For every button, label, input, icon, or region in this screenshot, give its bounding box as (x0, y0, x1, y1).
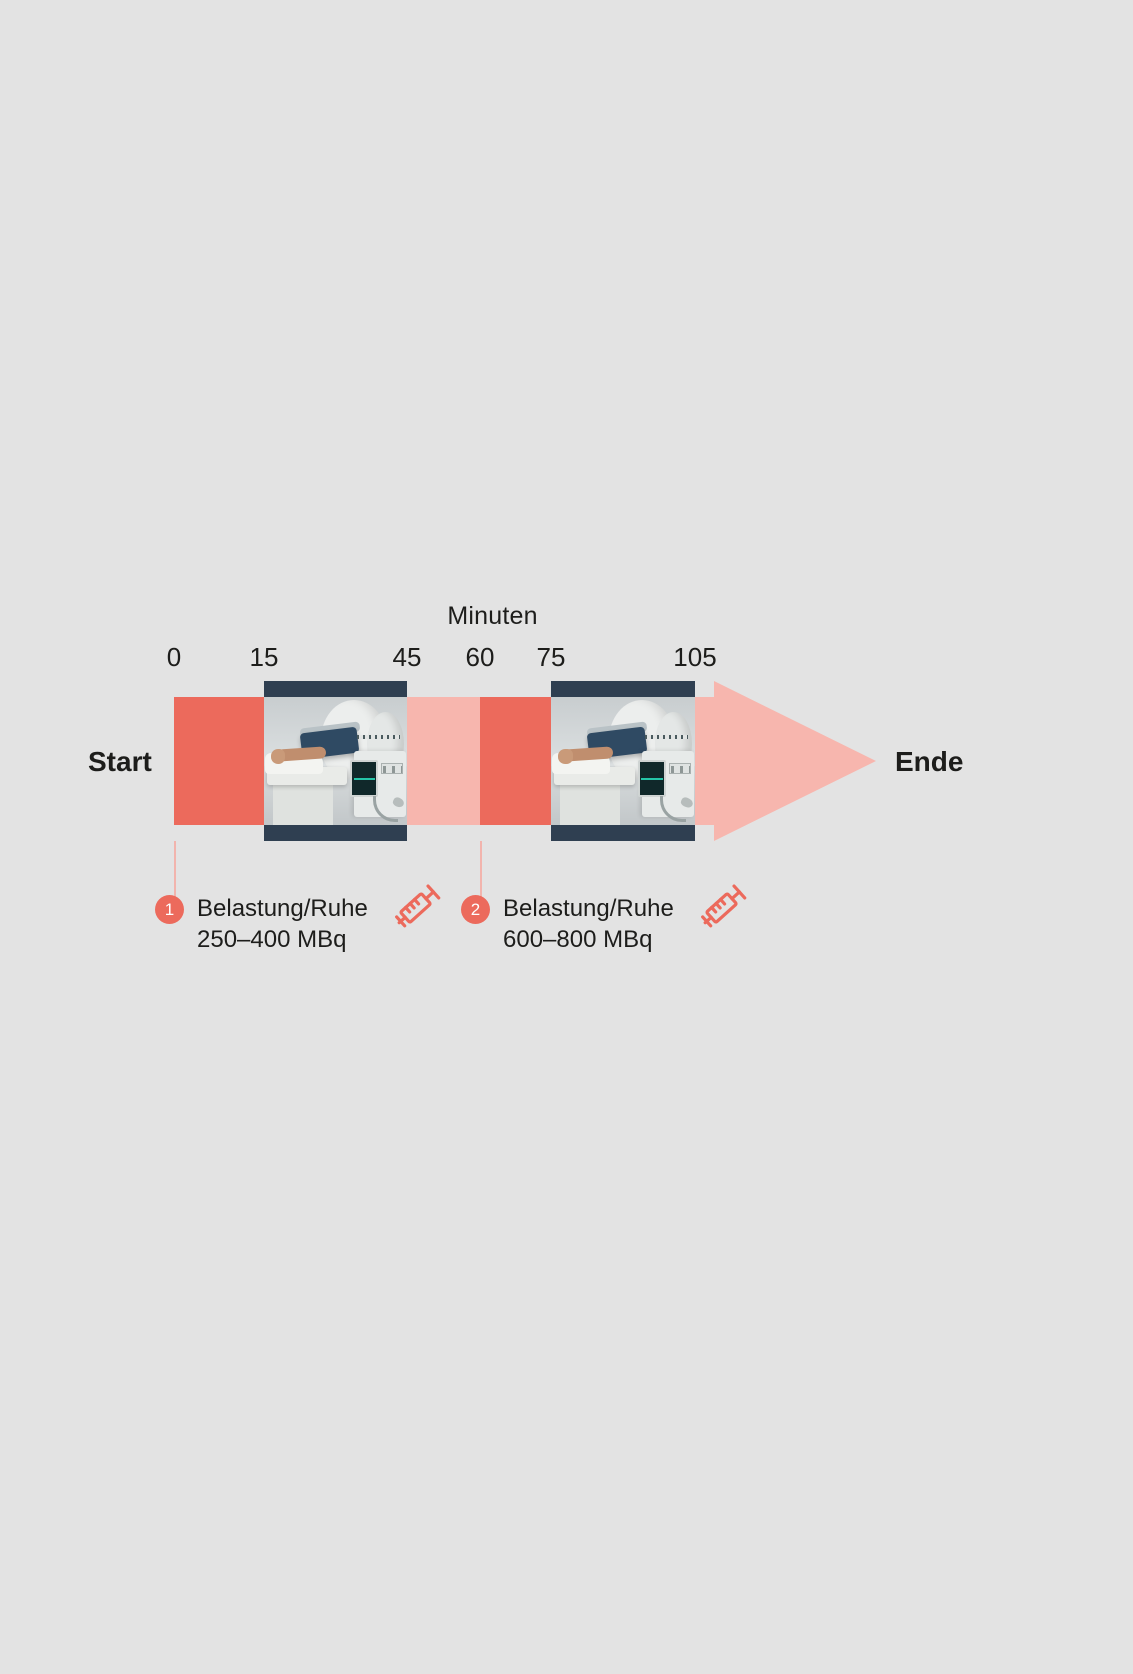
axis-tick-75: 75 (537, 642, 566, 673)
end-label: Ende (895, 746, 963, 778)
axis-tick-45: 45 (393, 642, 422, 673)
segment-rest-block-1 (174, 697, 264, 825)
syringe-icon-1 (388, 872, 452, 936)
annotation-injection-1: 1 Belastung/Ruhe 250–400 MBq (155, 893, 368, 955)
segment-scan-photo-2 (551, 681, 695, 841)
timeline-diagram: Minuten 0 15 45 60 75 105 (0, 0, 1133, 1674)
annotation-line1-1: Belastung/Ruhe (197, 893, 368, 924)
axis-title-text: Minuten (447, 602, 537, 630)
annotation-text-1: Belastung/Ruhe 250–400 MBq (197, 893, 368, 955)
syringe-icon-2 (694, 872, 758, 936)
annotation-text-2: Belastung/Ruhe 600–800 MBq (503, 893, 674, 955)
annotation-injection-2: 2 Belastung/Ruhe 600–800 MBq (461, 893, 674, 955)
axis-title: Minuten (0, 602, 1133, 631)
annotation-number-1: 1 (155, 895, 184, 924)
annotation-line2-2: 600–800 MBq (503, 924, 674, 955)
axis-tick-15: 15 (250, 642, 279, 673)
scanner-photo-frame-1 (264, 697, 407, 825)
annotation-line2-1: 250–400 MBq (197, 924, 368, 955)
start-label: Start (88, 746, 152, 778)
annotation-number-2: 2 (461, 895, 490, 924)
spect-scanner-image-2 (551, 697, 695, 825)
annotation-line1-2: Belastung/Ruhe (503, 893, 674, 924)
spect-scanner-image-1 (264, 697, 407, 825)
segment-scan-photo-1 (264, 681, 407, 841)
axis-tick-60: 60 (466, 642, 495, 673)
timeline-band (174, 681, 876, 841)
axis-tick-0: 0 (167, 642, 181, 673)
axis-tick-105: 105 (673, 642, 716, 673)
segment-rest-block-2 (480, 697, 551, 825)
scanner-photo-frame-2 (551, 697, 695, 825)
